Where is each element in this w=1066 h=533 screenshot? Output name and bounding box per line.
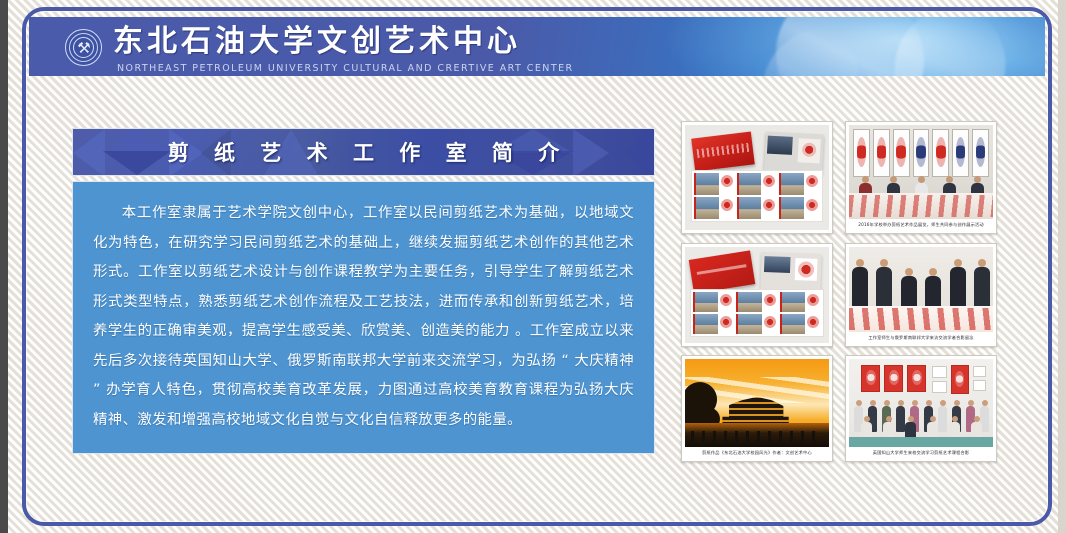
- photo-gallery: 2016年学校举办剪纸艺术作品展览，师生共同参与创作展示活动: [681, 121, 997, 462]
- photo-image: [685, 247, 829, 343]
- gallery-photo-international-class[interactable]: 英国知山大学师生来校交流学习剪纸艺术课程合影: [845, 355, 997, 462]
- stamp-sheet: [691, 170, 823, 222]
- photo-image: [849, 359, 993, 458]
- header-swoosh-icon: [879, 17, 1021, 76]
- seal-glyph: ⚒: [66, 39, 101, 57]
- papercut-scroll-table: [849, 193, 993, 219]
- gallery-photo-campus-sunset-papercut[interactable]: 剪纸作品《东北石油大学校园风光》作者：文创艺术中心: [681, 355, 833, 462]
- university-seal-icon: ⚒: [65, 29, 102, 66]
- open-booklet: [764, 132, 824, 175]
- wall-artwork-frames: [853, 129, 989, 177]
- papercut-banner: [849, 306, 993, 332]
- header-swoosh-icon: [743, 17, 878, 76]
- stamp-sheet: [690, 289, 824, 337]
- gallery-photo-group-portrait-six[interactable]: 工作室师生与俄罗斯南联邦大学来访交流学者合影留念: [845, 243, 997, 347]
- intro-card: 剪 纸 艺 术 工 作 室 简 介 本工作室隶属于艺术学院文创中心，工作室以民间…: [72, 128, 655, 454]
- workshop-desk: [849, 437, 993, 447]
- intro-title-banner: 剪 纸 艺 术 工 作 室 简 介: [72, 128, 655, 176]
- group-members: [852, 261, 990, 309]
- photo-caption: 2016年学校举办剪纸艺术作品展览，师生共同参与创作展示活动: [849, 219, 993, 230]
- photo-image: [685, 125, 829, 230]
- page-title: 东北石油大学文创艺术中心: [113, 23, 521, 61]
- gallery-photo-papercut-stamp-album[interactable]: [681, 243, 833, 347]
- header-swoosh-icon: [752, 17, 948, 76]
- photo-caption: 工作室师生与俄罗斯南联邦大学来访交流学者合影留念: [849, 332, 993, 343]
- intro-body-box: 本工作室隶属于艺术学院文创中心，工作室以民间剪纸艺术为基础，以地域文化为特色，在…: [72, 181, 655, 454]
- photo-image: [685, 359, 829, 458]
- canvas-right-edge: [1058, 0, 1066, 533]
- photo-caption: 英国知山大学师生来校交流学习剪纸艺术课程合影: [849, 447, 993, 458]
- gallery-photo-exhibition-visitors[interactable]: 2016年学校举办剪纸艺术作品展览，师生共同参与创作展示活动: [845, 121, 997, 234]
- gallery-photo-papercut-postcard-set[interactable]: [681, 121, 833, 234]
- intro-title-text: 剪 纸 艺 术 工 作 室 简 介: [73, 129, 654, 176]
- open-booklet: [760, 252, 821, 292]
- photo-image: [849, 125, 993, 230]
- poster-canvas: ⚒ 东北石油大学文创艺术中心 NORTHEAST PETROLEUM UNIVE…: [0, 0, 1066, 533]
- foreground-silhouette: [685, 423, 829, 447]
- photo-image: [849, 247, 993, 343]
- page-header: ⚒ 东北石油大学文创艺术中心 NORTHEAST PETROLEUM UNIVE…: [29, 17, 1045, 76]
- photo-caption: 剪纸作品《东北石油大学校园风光》作者：文创艺术中心: [685, 447, 829, 458]
- intro-body-text: 本工作室隶属于艺术学院文创中心，工作室以民间剪纸艺术为基础，以地域文化为特色，在…: [93, 199, 634, 435]
- page-subtitle-english: NORTHEAST PETROLEUM UNIVERSITY CULTURAL …: [117, 63, 574, 74]
- canvas-left-edge: [0, 0, 8, 533]
